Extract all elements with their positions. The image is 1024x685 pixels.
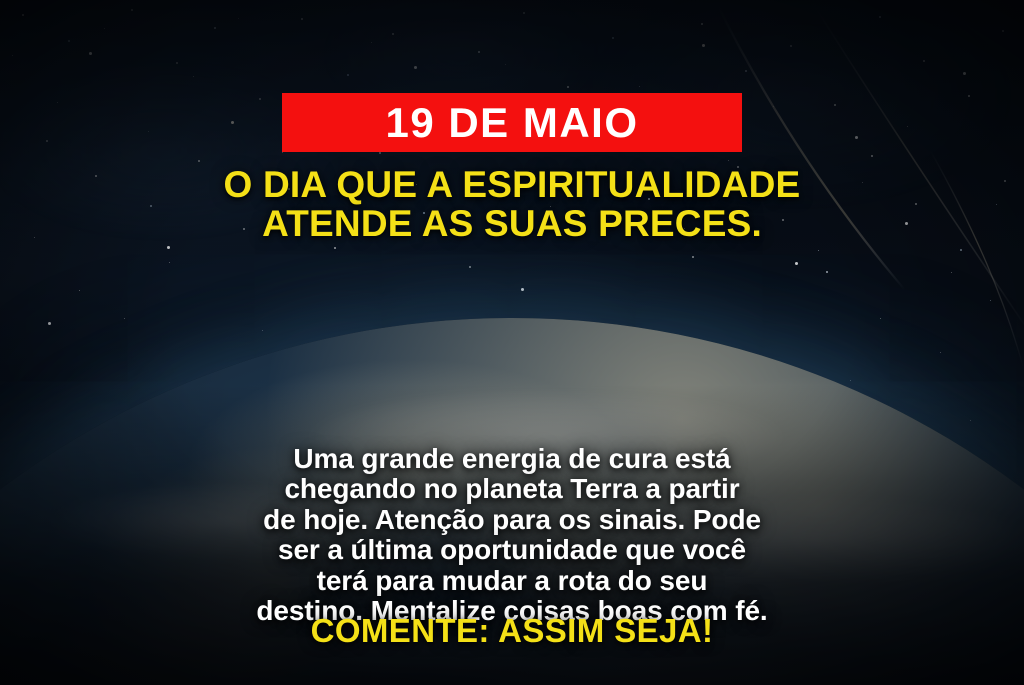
body-copy-line-2: chegando no planeta Terra a partir — [46, 474, 978, 504]
headline-line-2: ATENDE AS SUAS PRECES. — [0, 204, 1024, 243]
body-copy-line-4: ser a última oportunidade que você — [46, 535, 978, 565]
call-to-action: COMENTE: ASSIM SEJA! — [0, 614, 1024, 647]
body-copy-line-3: de hoje. Atenção para os sinais. Pode — [46, 505, 978, 535]
body-copy: Uma grande energia de cura está chegando… — [0, 444, 1024, 626]
poster-content: 19 DE MAIO O DIA QUE A ESPIRITUALIDADE A… — [0, 0, 1024, 685]
body-copy-line-5: terá para mudar a rota do seu — [46, 566, 978, 596]
date-banner: 19 DE MAIO — [282, 93, 742, 152]
poster-canvas: 19 DE MAIO O DIA QUE A ESPIRITUALIDADE A… — [0, 0, 1024, 685]
date-banner-label: 19 DE MAIO — [385, 102, 638, 144]
headline: O DIA QUE A ESPIRITUALIDADE ATENDE AS SU… — [0, 165, 1024, 243]
headline-line-1: O DIA QUE A ESPIRITUALIDADE — [0, 165, 1024, 204]
body-copy-line-1: Uma grande energia de cura está — [46, 444, 978, 474]
